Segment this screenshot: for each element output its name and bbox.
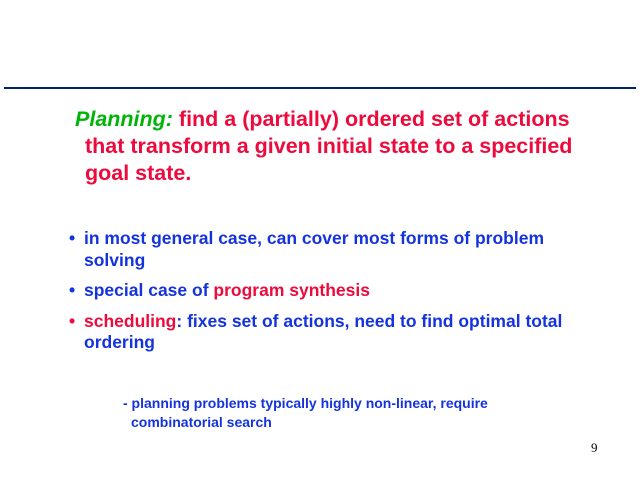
slide-canvas: Planning: find a (partially) ordered set… xyxy=(0,0,640,480)
list-item: •scheduling: fixes set of actions, need … xyxy=(68,311,598,354)
list-item: •special case of program synthesis xyxy=(68,280,598,302)
list-item: •in most general case, can cover most fo… xyxy=(68,228,598,271)
bullet-segment-emphasis: program synthesis xyxy=(213,280,370,300)
sub-note: - planning problems typically highly non… xyxy=(123,394,581,432)
title-divider-rule xyxy=(4,87,636,89)
bullet-marker-icon: • xyxy=(69,280,75,302)
bullet-segment: special case of xyxy=(84,280,213,300)
bullet-segment-emphasis: scheduling xyxy=(84,311,176,331)
bullet-segment: in most general case, can cover most for… xyxy=(84,228,544,270)
sub-note-text: planning problems typically highly non-l… xyxy=(128,395,488,430)
slide-heading: Planning: find a (partially) ordered set… xyxy=(75,106,605,187)
bullet-list: •in most general case, can cover most fo… xyxy=(68,228,598,362)
page-number: 9 xyxy=(591,440,598,456)
bullet-marker-icon: • xyxy=(69,311,75,333)
heading-keyword: Planning: xyxy=(75,107,173,131)
bullet-marker-icon: • xyxy=(69,228,75,250)
slide-title-placeholder[interactable] xyxy=(0,0,640,86)
